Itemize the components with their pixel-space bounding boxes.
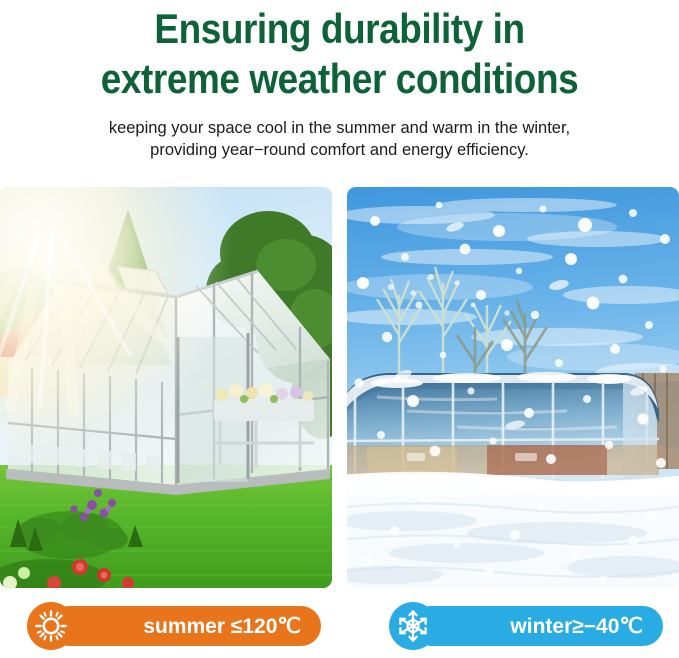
photo-row (0, 187, 679, 588)
page-subtitle-line-2: providing year−round comfort and energy … (0, 139, 679, 161)
sun-icon (34, 609, 68, 643)
winter-greenhouse-photo (347, 187, 679, 588)
page-title: Ensuring durability in extreme weather c… (41, 0, 639, 104)
summer-badge-label: summer ≤120℃ (143, 614, 301, 639)
winter-badge-icon-circle (389, 602, 437, 650)
winter-badge-label: winter≥−40℃ (510, 614, 643, 639)
page-subtitle: keeping your space cool in the summer an… (0, 117, 679, 161)
page-title-line-2: extreme weather conditions (41, 54, 639, 104)
snowflake-icon (396, 609, 430, 643)
summer-badge-pill: summer ≤120℃ (49, 606, 321, 646)
summer-badge-icon-circle (27, 602, 75, 650)
summer-greenhouse-photo (0, 187, 332, 588)
page-title-line-1: Ensuring durability in (41, 4, 639, 54)
page-subtitle-line-1: keeping your space cool in the summer an… (0, 117, 679, 139)
winter-badge-pill: winter≥−40℃ (411, 606, 663, 646)
temperature-badge-row: summer ≤120℃ (0, 600, 679, 656)
